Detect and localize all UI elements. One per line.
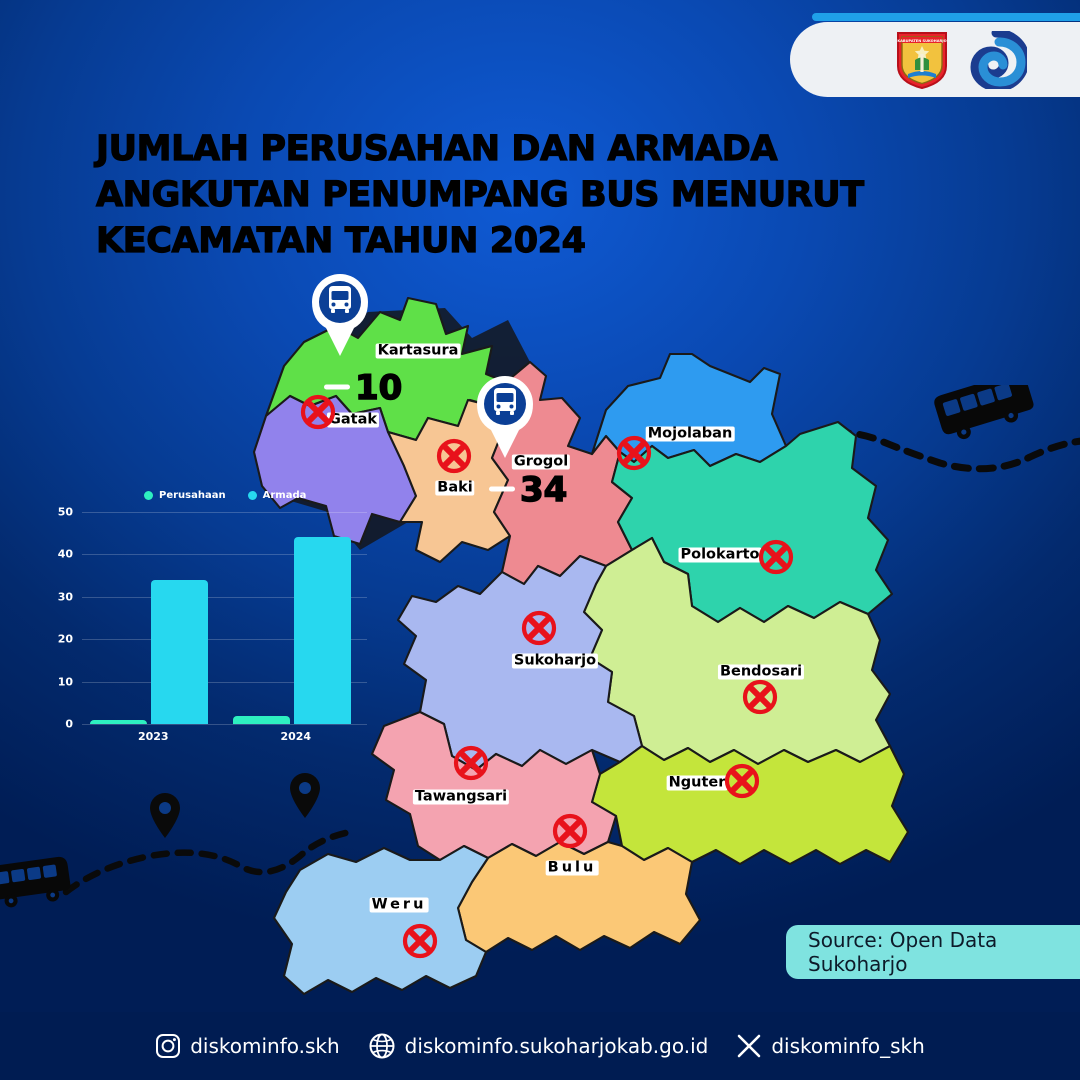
map-label-nguter: Nguter — [667, 776, 728, 791]
bus-count-kartasura: 10 — [355, 368, 402, 408]
instagram-icon — [155, 1033, 181, 1059]
chart-legend: PerusahaanArmada — [144, 490, 306, 501]
map-label-baki: Baki — [435, 481, 474, 496]
globe-icon — [368, 1032, 396, 1060]
map-label-polokarto: Polokarto — [679, 548, 762, 563]
x-twitter-icon — [736, 1033, 762, 1059]
gridline-50 — [82, 512, 367, 513]
y-axis-tick-50: 50 — [33, 506, 73, 519]
map-label-tawangsari: Tawangsari — [413, 790, 509, 805]
svg-text:KABUPATEN SUKOHARJO: KABUPATEN SUKOHARJO — [897, 39, 946, 43]
footer-item-instagram[interactable]: diskominfo.skh — [155, 1033, 339, 1059]
region-weru[interactable] — [274, 846, 488, 994]
legend-label-perusahaan: Perusahaan — [159, 490, 226, 501]
bus-silhouette-icon — [0, 856, 72, 910]
bar-perusahaan-2023[interactable] — [90, 720, 147, 724]
legend-swatch-armada — [248, 491, 257, 500]
footer-label-x-twitter: diskominfo_skh — [771, 1034, 924, 1058]
y-axis-tick-30: 30 — [33, 590, 73, 603]
bus-pin-kartasura[interactable] — [304, 266, 376, 358]
footer-item-website[interactable]: diskominfo.sukoharjokab.go.id — [368, 1032, 709, 1060]
no-service-x-icon-bulu — [550, 811, 590, 851]
legend-swatch-perusahaan — [144, 491, 153, 500]
no-service-x-icon-mojolaban — [614, 433, 654, 473]
bar-chart[interactable]: PerusahaanArmada 01020304050 20232024 — [44, 484, 374, 769]
no-service-x-icon-bendosari — [740, 677, 780, 717]
footer-item-x-twitter[interactable]: diskominfo_skh — [736, 1033, 924, 1059]
infographic-canvas: KABUPATEN SUKOHARJO JUMLAH PERUSAHAN DAN… — [0, 0, 1080, 1080]
map-label-mojolaban: Mojolaban — [646, 427, 735, 442]
region-bulu[interactable] — [458, 842, 700, 952]
pin-leader-dash — [489, 487, 515, 492]
bus-pin-icon — [304, 266, 376, 358]
legend-item-armada[interactable]: Armada — [248, 490, 307, 501]
map-label-weru: Weru — [370, 898, 429, 913]
chart-plot-area: 01020304050 — [82, 512, 367, 724]
y-axis-tick-20: 20 — [33, 633, 73, 646]
pin-leader-dash — [324, 385, 350, 390]
map-label-kartasura: Kartasura — [376, 344, 461, 359]
no-service-x-icon-baki — [434, 436, 474, 476]
header-accent-bar — [812, 13, 1080, 21]
sukoharjo-regency-crest-icon: KABUPATEN SUKOHARJO — [895, 30, 949, 90]
page-title: JUMLAH PERUSAHAN DAN ARMADA ANGKUTAN PEN… — [96, 126, 996, 264]
x-axis-tick-2023: 2023 — [138, 730, 169, 743]
y-axis-tick-10: 10 — [33, 675, 73, 688]
footer-label-website: diskominfo.sukoharjokab.go.id — [405, 1034, 709, 1058]
no-service-x-icon-sukoharjo — [519, 608, 559, 648]
bus-pin-icon — [469, 368, 541, 460]
no-service-x-icon-polokarto — [756, 537, 796, 577]
bus-count-grogol: 34 — [520, 470, 567, 510]
no-service-x-icon-weru — [400, 921, 440, 961]
x-axis-tick-2024: 2024 — [280, 730, 311, 743]
no-service-x-icon-tawangsari — [451, 743, 491, 783]
map-pin-icon — [150, 793, 180, 838]
gridline-0 — [82, 724, 367, 725]
header-logo-panel: KABUPATEN SUKOHARJO — [790, 0, 1080, 118]
y-axis-tick-40: 40 — [33, 548, 73, 561]
y-axis-tick-0: 0 — [33, 718, 73, 731]
no-service-x-icon-gatak — [298, 392, 338, 432]
kominfo-wave-logo-icon — [965, 31, 1027, 89]
source-badge: Source: Open Data Sukoharjo — [786, 925, 1080, 979]
footer-label-instagram: diskominfo.skh — [190, 1034, 339, 1058]
legend-item-perusahaan[interactable]: Perusahaan — [144, 490, 226, 501]
map-label-sukoharjo: Sukoharjo — [512, 654, 598, 669]
legend-label-armada: Armada — [263, 490, 307, 501]
bar-perusahaan-2024[interactable] — [233, 716, 290, 724]
footer-bar: diskominfo.skh diskominfo.sukoharjokab.g… — [0, 1012, 1080, 1080]
bar-armada-2024[interactable] — [294, 537, 351, 724]
no-service-x-icon-nguter — [722, 761, 762, 801]
bar-armada-2023[interactable] — [151, 580, 208, 724]
map-label-bulu: Bulu — [546, 861, 599, 876]
bus-pin-grogol[interactable] — [469, 368, 541, 460]
